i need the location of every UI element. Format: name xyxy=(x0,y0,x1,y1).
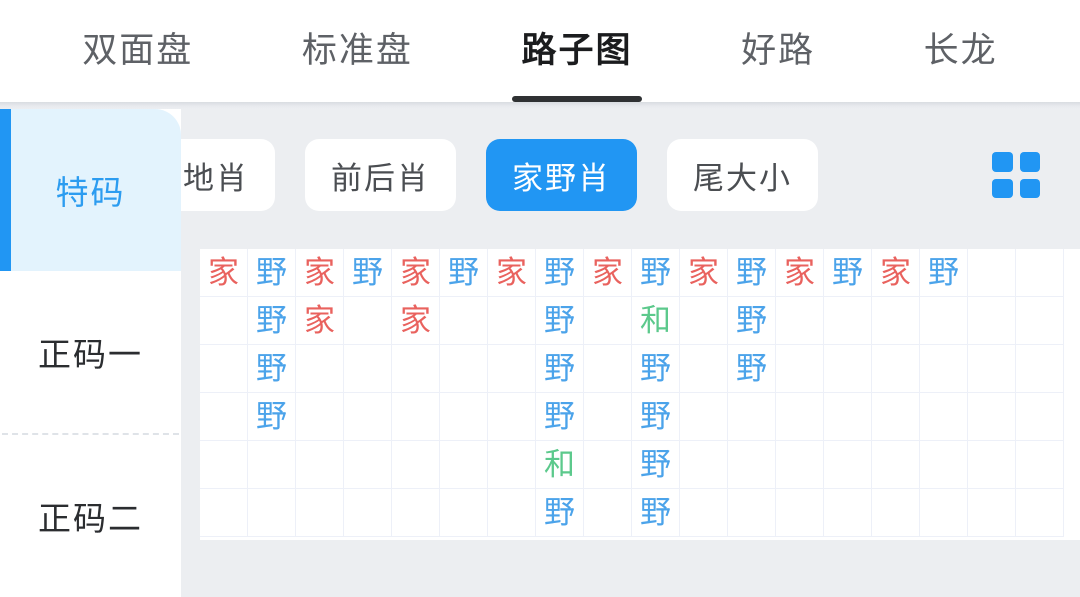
roadmap-cell-filled: 家 xyxy=(488,249,536,297)
tab-label: 路子图 xyxy=(521,31,632,70)
roadmap-cell-empty xyxy=(248,489,296,537)
roadmap-cell-empty xyxy=(584,489,632,537)
tab-haolu[interactable]: 好路 xyxy=(735,0,821,102)
roadmap-cell-empty xyxy=(440,345,488,393)
roadmap-cell-empty xyxy=(488,345,536,393)
roadmap-cell-filled: 野 xyxy=(536,489,584,537)
tab-label: 长龙 xyxy=(924,31,998,70)
roadmap-cell-empty xyxy=(344,393,392,441)
roadmap-cell-empty xyxy=(776,489,824,537)
sidebar-item-label: 正码二 xyxy=(38,492,143,540)
grid-icon-square xyxy=(992,152,1013,172)
roadmap-cell-empty xyxy=(1016,441,1064,489)
roadmap-cell-empty xyxy=(872,345,920,393)
grid-icon-square xyxy=(1020,179,1041,199)
roadmap-cell-empty xyxy=(200,393,248,441)
roadmap-cell-filled: 野 xyxy=(632,393,680,441)
roadmap-cell-empty xyxy=(200,345,248,393)
roadmap-cell-empty xyxy=(1016,249,1064,297)
chip-qianhouxiao[interactable]: 前后肖 xyxy=(305,139,456,211)
roadmap-cell-empty xyxy=(968,297,1016,345)
roadmap-cell-empty xyxy=(584,345,632,393)
roadmap-cell-empty xyxy=(824,393,872,441)
roadmap-cell-empty xyxy=(1016,297,1064,345)
roadmap-cell-empty xyxy=(824,441,872,489)
roadmap-cell-empty xyxy=(392,345,440,393)
roadmap-cell-empty xyxy=(1016,393,1064,441)
roadmap-cell-filled: 野 xyxy=(920,249,968,297)
top-tab-bar: 双面盘 标准盘 路子图 好路 长龙 xyxy=(0,0,1080,102)
roadmap-cell-empty xyxy=(728,441,776,489)
roadmap-cell-empty xyxy=(920,393,968,441)
roadmap-grid: 家野家野家野家野家野家野家野家野野家家野和野野野野野野野野和野野野 xyxy=(200,249,1080,537)
roadmap-cell-empty xyxy=(680,393,728,441)
active-marker xyxy=(0,109,11,271)
roadmap-cell-filled: 家 xyxy=(392,249,440,297)
roadmap-cell-empty xyxy=(296,345,344,393)
sidebar-item-zhengma-er[interactable]: 正码二 xyxy=(0,435,181,597)
roadmap-cell-empty xyxy=(440,393,488,441)
filter-chip-row[interactable]: 地肖 前后肖 家野肖 尾大小 xyxy=(181,109,1080,241)
roadmap-cell-filled: 家 xyxy=(680,249,728,297)
roadmap-cell-empty xyxy=(488,441,536,489)
roadmap-cell-empty xyxy=(824,489,872,537)
roadmap-cell-filled: 野 xyxy=(728,297,776,345)
roadmap-cell-empty xyxy=(728,393,776,441)
roadmap-cell-empty xyxy=(344,345,392,393)
roadmap-cell-filled: 野 xyxy=(728,249,776,297)
roadmap-cell-empty xyxy=(440,489,488,537)
roadmap-cell-filled: 和 xyxy=(632,297,680,345)
tab-changlong[interactable]: 长龙 xyxy=(918,0,1004,102)
tab-shuangmianpan[interactable]: 双面盘 xyxy=(76,0,199,102)
roadmap-cell-filled: 家 xyxy=(296,297,344,345)
grid-icon-square xyxy=(1020,152,1041,172)
roadmap-cell-empty xyxy=(872,297,920,345)
roadmap-cell-empty xyxy=(488,297,536,345)
roadmap-cell-empty xyxy=(248,441,296,489)
roadmap-cell-filled: 野 xyxy=(248,249,296,297)
roadmap-cell-filled: 野 xyxy=(536,297,584,345)
roadmap-cell-filled: 野 xyxy=(632,441,680,489)
roadmap-cell-empty xyxy=(776,441,824,489)
filter-chip-strip: 地肖 前后肖 家野肖 尾大小 xyxy=(181,139,818,211)
roadmap-cell-filled: 野 xyxy=(536,249,584,297)
roadmap-cell-filled: 野 xyxy=(248,297,296,345)
roadmap-cell-filled: 野 xyxy=(248,393,296,441)
roadmap-cell-empty xyxy=(680,297,728,345)
roadmap-cell-empty xyxy=(776,393,824,441)
roadmap-cell-empty xyxy=(584,441,632,489)
tab-label: 好路 xyxy=(741,31,815,70)
roadmap-cell-empty xyxy=(920,345,968,393)
roadmap-cell-empty xyxy=(920,489,968,537)
roadmap-cell-filled: 野 xyxy=(248,345,296,393)
roadmap-cell-filled: 家 xyxy=(200,249,248,297)
chip-weidaxiao[interactable]: 尾大小 xyxy=(667,139,818,211)
roadmap-cell-empty xyxy=(488,393,536,441)
roadmap-cell-empty xyxy=(200,297,248,345)
sidebar-item-label: 特码 xyxy=(56,166,126,214)
chip-label: 地肖 xyxy=(183,153,249,198)
roadmap-cell-empty xyxy=(1016,345,1064,393)
chip-dixiao[interactable]: 地肖 xyxy=(181,139,275,211)
roadmap-cell-empty xyxy=(296,393,344,441)
roadmap-screen: 双面盘 标准盘 路子图 好路 长龙 特码 正码一 正码二 xyxy=(0,0,1080,548)
roadmap-cell-empty xyxy=(824,297,872,345)
tab-luzitu[interactable]: 路子图 xyxy=(515,0,638,102)
tab-label: 标准盘 xyxy=(302,31,413,70)
roadmap-cell-empty xyxy=(968,249,1016,297)
roadmap-cell-filled: 野 xyxy=(632,489,680,537)
roadmap-cell-empty xyxy=(200,489,248,537)
roadmap-cell-filled: 野 xyxy=(536,393,584,441)
chip-label: 尾大小 xyxy=(693,153,792,198)
roadmap-cell-filled: 和 xyxy=(536,441,584,489)
roadmap-grid-container[interactable]: 家野家野家野家野家野家野家野家野野家家野和野野野野野野野野和野野野 xyxy=(200,249,1080,540)
chip-label: 家野肖 xyxy=(512,153,611,198)
chip-jiayexiao[interactable]: 家野肖 xyxy=(486,139,637,211)
roadmap-cell-empty xyxy=(680,489,728,537)
roadmap-cell-empty xyxy=(920,441,968,489)
grid-icon[interactable] xyxy=(992,152,1040,198)
roadmap-cell-empty xyxy=(968,393,1016,441)
roadmap-cell-empty xyxy=(344,489,392,537)
tab-label: 双面盘 xyxy=(82,31,193,70)
sidebar-item-label: 正码一 xyxy=(38,328,143,376)
category-sidebar: 特码 正码一 正码二 xyxy=(0,109,181,548)
roadmap-cell-empty xyxy=(392,489,440,537)
roadmap-cell-empty xyxy=(584,393,632,441)
roadmap-cell-empty xyxy=(1016,489,1064,537)
roadmap-cell-empty xyxy=(968,345,1016,393)
sidebar-item-zhengma-yi[interactable]: 正码一 xyxy=(0,271,181,433)
roadmap-cell-empty xyxy=(968,489,1016,537)
chip-label: 前后肖 xyxy=(331,153,430,198)
roadmap-cell-empty xyxy=(440,441,488,489)
roadmap-cell-empty xyxy=(392,441,440,489)
roadmap-cell-filled: 家 xyxy=(392,297,440,345)
roadmap-cell-empty xyxy=(776,297,824,345)
roadmap-cell-filled: 家 xyxy=(776,249,824,297)
roadmap-cell-empty xyxy=(344,297,392,345)
roadmap-cell-empty xyxy=(872,393,920,441)
roadmap-cell-empty xyxy=(440,297,488,345)
roadmap-cell-filled: 家 xyxy=(296,249,344,297)
roadmap-cell-empty xyxy=(296,441,344,489)
roadmap-cell-empty xyxy=(344,441,392,489)
roadmap-cell-empty xyxy=(488,489,536,537)
roadmap-cell-empty xyxy=(872,489,920,537)
roadmap-cell-filled: 野 xyxy=(536,345,584,393)
roadmap-cell-empty xyxy=(584,297,632,345)
roadmap-bottom-gap xyxy=(200,540,1080,548)
roadmap-cell-filled: 野 xyxy=(632,249,680,297)
tabbar-divider xyxy=(0,102,1080,109)
roadmap-cell-empty xyxy=(728,489,776,537)
roadmap-cell-filled: 野 xyxy=(824,249,872,297)
roadmap-cell-filled: 野 xyxy=(440,249,488,297)
roadmap-panel: 地肖 前后肖 家野肖 尾大小 家野家野家野家野家野家 xyxy=(181,109,1080,548)
roadmap-cell-empty xyxy=(968,441,1016,489)
roadmap-cell-filled: 野 xyxy=(728,345,776,393)
roadmap-cell-empty xyxy=(776,345,824,393)
roadmap-cell-empty xyxy=(824,345,872,393)
sidebar-item-tema[interactable]: 特码 xyxy=(0,109,181,271)
roadmap-cell-empty xyxy=(680,345,728,393)
roadmap-cell-filled: 家 xyxy=(584,249,632,297)
tab-biaozhunpan[interactable]: 标准盘 xyxy=(296,0,419,102)
roadmap-cell-empty xyxy=(872,441,920,489)
roadmap-cell-filled: 家 xyxy=(872,249,920,297)
roadmap-cell-empty xyxy=(920,297,968,345)
roadmap-cell-filled: 野 xyxy=(632,345,680,393)
roadmap-cell-filled: 野 xyxy=(344,249,392,297)
roadmap-cell-empty xyxy=(296,489,344,537)
roadmap-cell-empty xyxy=(680,441,728,489)
roadmap-cell-empty xyxy=(200,441,248,489)
grid-icon-square xyxy=(992,179,1013,199)
roadmap-cell-empty xyxy=(392,393,440,441)
